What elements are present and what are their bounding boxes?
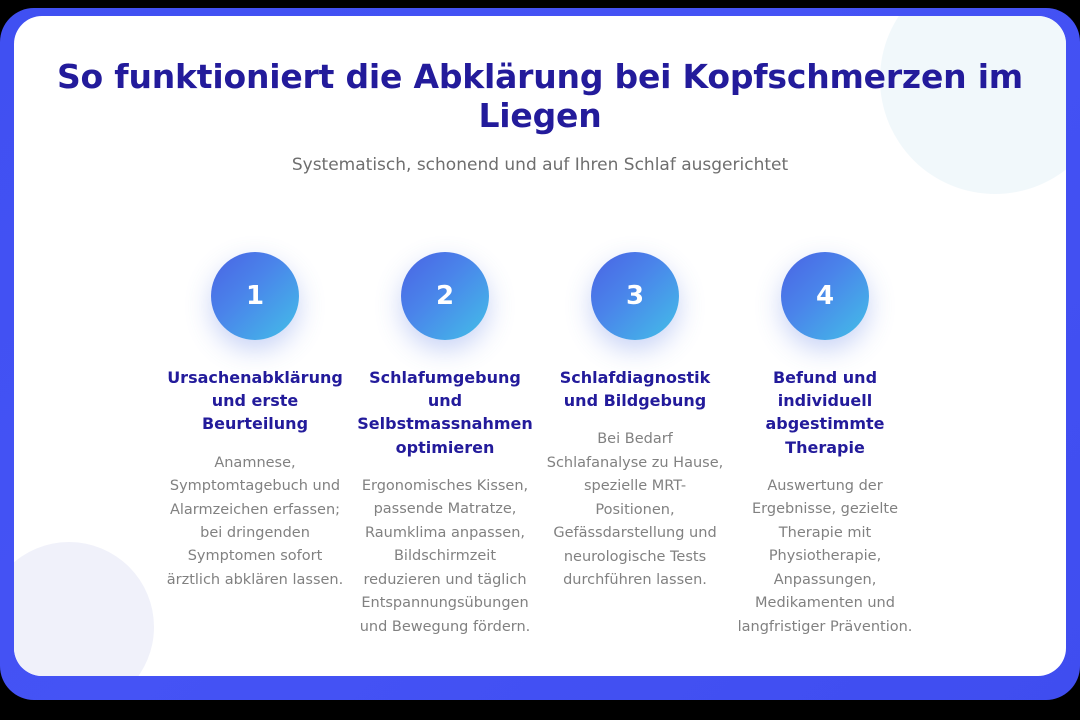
step-title-4: Befund und individuell abgestimmte Thera… (730, 366, 920, 459)
step-title-3: Schlafdiagnostik und Bildgebung (540, 366, 730, 412)
step-item-2: 2 Schlafumgebung und Selbstmassnahmen op… (350, 252, 540, 639)
step-number-badge-4: 4 (781, 252, 869, 340)
step-number-badge-2: 2 (401, 252, 489, 340)
step-number-badge-3: 3 (591, 252, 679, 340)
page-subtitle: Systematisch, schonend und auf Ihren Sch… (14, 154, 1066, 176)
header: So funktioniert die Abklärung bei Kopfsc… (14, 16, 1066, 176)
steps-row: 1 Ursachenabklärung und erste Beurteilun… (14, 252, 1066, 639)
step-body-1: Anamnese, Symptomtagebuch und Alarmzeich… (160, 452, 350, 593)
step-item-3: 3 Schlafdiagnostik und Bildgebung Bei Be… (540, 252, 730, 593)
step-number-badge-1: 1 (211, 252, 299, 340)
page-title: So funktioniert die Abklärung bei Kopfsc… (14, 58, 1066, 136)
step-item-1: 1 Ursachenabklärung und erste Beurteilun… (160, 252, 350, 592)
step-body-3: Bei Bedarf Schlafanalyse zu Hause, spezi… (540, 428, 730, 592)
content-card: So funktioniert die Abklärung bei Kopfsc… (14, 16, 1066, 676)
step-title-2: Schlafumgebung und Selbstmassnahmen opti… (350, 366, 540, 459)
step-title-1: Ursachenabklärung und erste Beurteilung (160, 366, 350, 436)
step-item-4: 4 Befund und individuell abgestimmte The… (730, 252, 920, 639)
step-body-2: Ergonomisches Kissen, passende Matratze,… (350, 475, 540, 639)
step-body-4: Auswertung der Ergebnisse, gezielte Ther… (730, 475, 920, 639)
outer-gradient-frame: So funktioniert die Abklärung bei Kopfsc… (0, 8, 1080, 700)
